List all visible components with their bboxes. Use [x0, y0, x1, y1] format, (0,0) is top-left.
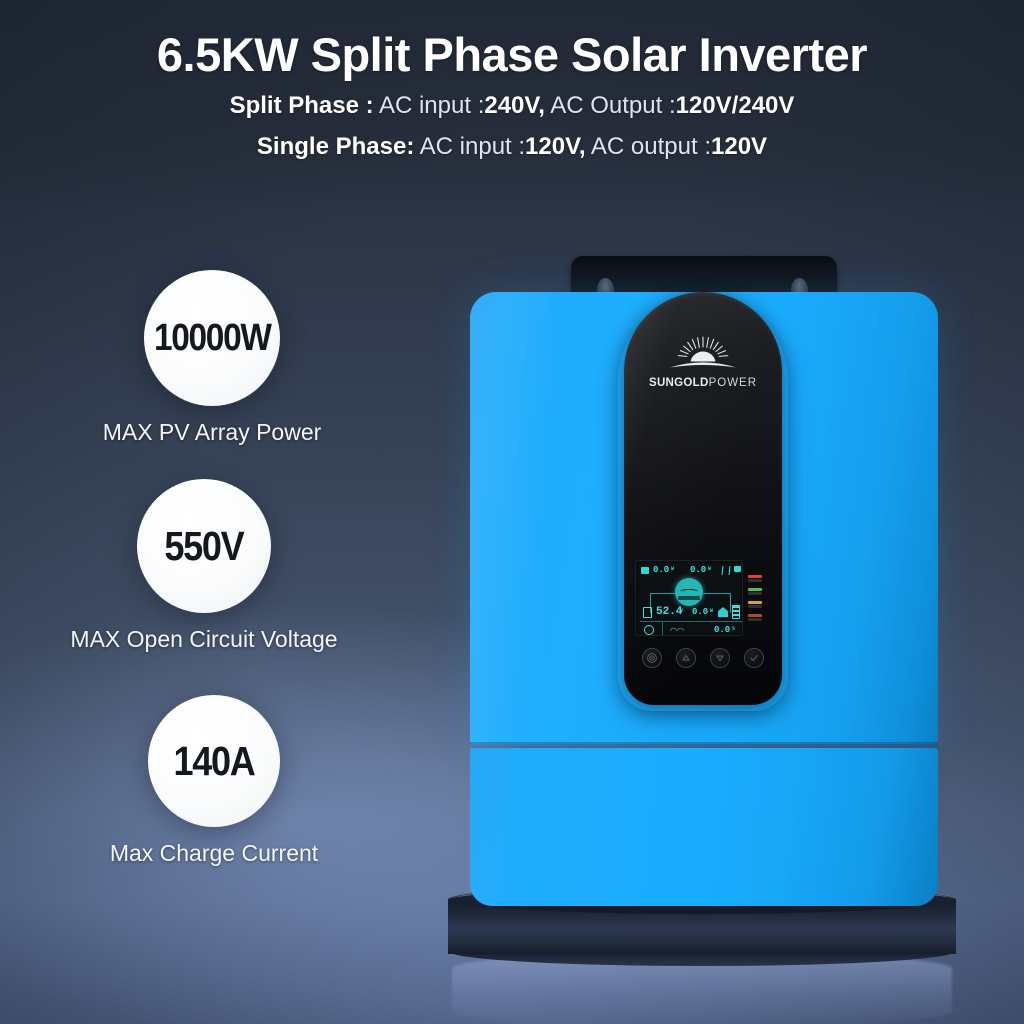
- signal-icon: [734, 566, 741, 572]
- lcd-screen-content: 0.0 W 0.0 W: [638, 563, 740, 633]
- fault-led: [748, 575, 762, 582]
- battery-level-bars-icon: [732, 605, 740, 619]
- single-phase-output-label: AC output :: [591, 133, 711, 160]
- fan-icon: ◠◠: [670, 626, 680, 634]
- up-button[interactable]: [676, 648, 696, 668]
- single-phase-comma: ,: [579, 133, 586, 160]
- solar-inverter-product: SUNGOLDPOWER 0.0 W 0.0 W: [470, 256, 938, 906]
- ac-output-unit: W: [710, 608, 713, 614]
- load-percent-unit: %: [732, 626, 735, 632]
- ac-output-value: 0.0: [692, 607, 708, 617]
- badge-label: MAX PV Array Power: [62, 419, 362, 446]
- lcd-divider: [640, 621, 743, 622]
- pv-power-value: 0.0: [653, 565, 669, 575]
- battery-voltage-unit: V: [680, 608, 683, 614]
- inverter-body-lower: [470, 748, 938, 906]
- flow-line-left: [650, 593, 675, 594]
- spec-line-single-phase: Single Phase: AC input :120V, AC output …: [0, 135, 1024, 159]
- badge-circle: 550V: [137, 479, 271, 613]
- single-phase-input-label: AC input :: [420, 133, 525, 160]
- page-title: 6.5KW Split Phase Solar Inverter: [0, 0, 1024, 80]
- badge-value: 550V: [164, 523, 243, 570]
- lcd-display[interactable]: 0.0 W 0.0 W: [635, 560, 743, 636]
- flow-line-right: [703, 593, 731, 594]
- inverter-core-label: [678, 596, 700, 600]
- flow-line-right-down: [730, 593, 731, 613]
- charging-led: [748, 588, 762, 595]
- badge-value: 10000W: [154, 317, 271, 360]
- feature-badge-charge-current: 140A Max Charge Current: [66, 695, 362, 867]
- brand-logo: SUNGOLDPOWER: [624, 334, 782, 389]
- feature-badge-open-circuit-voltage: 550V MAX Open Circuit Voltage: [44, 479, 364, 653]
- home-load-icon: [718, 607, 728, 617]
- header: 6.5KW Split Phase Solar Inverter Split P…: [0, 0, 1024, 159]
- status-ok-icon: [644, 625, 654, 635]
- split-phase-input-value: 240V: [484, 92, 538, 119]
- grid-tower-icon: [722, 566, 731, 575]
- inverter-core-wave: [680, 589, 698, 594]
- ac-input-value: 0.0: [690, 565, 706, 575]
- lcd-divider-vertical: [662, 621, 663, 636]
- sunburst-horizon-icon: [624, 334, 782, 374]
- split-phase-input-label: AC input :: [379, 92, 484, 119]
- badge-label: MAX Open Circuit Voltage: [44, 626, 364, 653]
- badge-circle: 10000W: [144, 270, 280, 406]
- check-icon: [748, 652, 760, 664]
- feature-badge-pv-power: 10000W MAX PV Array Power: [62, 270, 362, 446]
- status-led: [748, 601, 762, 608]
- triangle-down-icon: [714, 652, 726, 664]
- ac-input-unit: W: [708, 566, 711, 572]
- single-phase-input-value: 120V: [525, 133, 579, 160]
- single-phase-output-value: 120V: [711, 133, 767, 160]
- poster-canvas: 6.5KW Split Phase Solar Inverter Split P…: [0, 0, 1024, 1024]
- gear-icon: [646, 652, 658, 664]
- brand-name: SUNGOLDPOWER: [624, 377, 782, 389]
- badge-label: Max Charge Current: [66, 840, 362, 867]
- escape-button[interactable]: [642, 648, 662, 668]
- down-button[interactable]: [710, 648, 730, 668]
- spec-line-split-phase: Split Phase : AC input :240V, AC Output …: [0, 94, 1024, 118]
- pv-panel-icon: [641, 567, 649, 574]
- split-phase-comma: ,: [538, 92, 545, 119]
- battery-voltage-value: 52.4: [656, 606, 682, 618]
- control-panel: SUNGOLDPOWER 0.0 W 0.0 W: [624, 292, 782, 705]
- badge-value: 140A: [174, 738, 255, 785]
- brand-name-light: POWER: [709, 377, 757, 389]
- split-phase-output-label: AC Output :: [550, 92, 675, 119]
- brand-name-bold: SUNGOLD: [649, 377, 709, 389]
- pv-power-unit: W: [671, 566, 674, 572]
- battery-icon: [643, 607, 652, 618]
- triangle-up-icon: [680, 652, 692, 664]
- enter-button[interactable]: [744, 648, 764, 668]
- ac-led: [748, 614, 762, 621]
- single-phase-label: Single Phase:: [257, 133, 414, 160]
- load-percent-value: 0.0: [714, 625, 730, 635]
- control-button-row: [624, 648, 782, 668]
- split-phase-label: Split Phase :: [230, 92, 374, 119]
- led-indicator-strip: [748, 575, 762, 627]
- badge-circle: 140A: [148, 695, 280, 827]
- split-phase-output-value: 120V/240V: [676, 92, 795, 119]
